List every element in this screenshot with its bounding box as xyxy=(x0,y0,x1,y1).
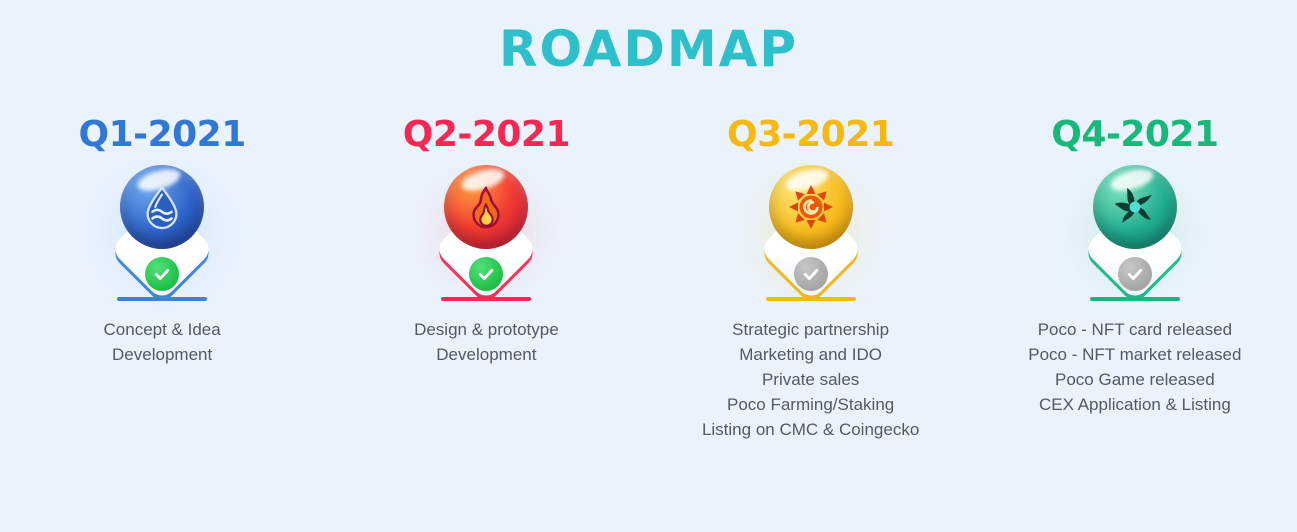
phase-label-q4: Q4-2021 xyxy=(1051,117,1218,153)
phase-label-q3: Q3-2021 xyxy=(727,117,894,153)
phase-emblem-q3 xyxy=(721,165,901,285)
list-item: Private sales xyxy=(702,367,919,392)
roadmap-phase-q3: Q3-2021 xyxy=(649,117,973,442)
list-item: Poco - NFT market released xyxy=(1028,342,1241,367)
list-item: Poco Game released xyxy=(1028,367,1241,392)
roadmap-phase-q2: Q2-2021 Design & prototype De xyxy=(324,117,648,367)
phase-divider xyxy=(1090,297,1180,301)
list-item: Marketing and IDO xyxy=(702,342,919,367)
roadmap-phase-q4: Q4-2021 xyxy=(973,117,1297,417)
orb-rim xyxy=(120,165,204,249)
orb-rim xyxy=(1093,165,1177,249)
phase-emblem-q4 xyxy=(1045,165,1225,285)
phase-items-q1: Concept & Idea Development xyxy=(104,317,221,367)
phase-divider xyxy=(117,297,207,301)
phase-label-q2: Q2-2021 xyxy=(403,117,570,153)
list-item: Poco - NFT card released xyxy=(1028,317,1241,342)
roadmap-phase-q1: Q1-2021 Conce xyxy=(0,117,324,367)
phase-divider xyxy=(441,297,531,301)
phase-label-q1: Q1-2021 xyxy=(78,117,245,153)
list-item: CEX Application & Listing xyxy=(1028,392,1241,417)
list-item: Development xyxy=(414,342,559,367)
status-badge-check-icon xyxy=(1118,257,1152,291)
sun-orb-icon xyxy=(769,165,853,249)
flame-orb-icon xyxy=(444,165,528,249)
phase-items-q2: Design & prototype Development xyxy=(414,317,559,367)
status-badge-check-icon xyxy=(794,257,828,291)
roadmap-phase-list: Q1-2021 Conce xyxy=(0,117,1297,442)
phase-items-q3: Strategic partnership Marketing and IDO … xyxy=(702,317,919,442)
wind-swirl-orb-icon xyxy=(1093,165,1177,249)
phase-emblem-q1 xyxy=(72,165,252,285)
list-item: Development xyxy=(104,342,221,367)
check-icon xyxy=(476,264,496,284)
water-drop-orb-icon xyxy=(120,165,204,249)
phase-emblem-q2 xyxy=(396,165,576,285)
status-badge-check-icon xyxy=(145,257,179,291)
check-icon xyxy=(1125,264,1145,284)
page-title: ROADMAP xyxy=(0,22,1297,77)
phase-items-q4: Poco - NFT card released Poco - NFT mark… xyxy=(1028,317,1241,417)
orb-rim xyxy=(769,165,853,249)
list-item: Concept & Idea xyxy=(104,317,221,342)
list-item: Listing on CMC & Coingecko xyxy=(702,417,919,442)
check-icon xyxy=(801,264,821,284)
list-item: Design & prototype xyxy=(414,317,559,342)
list-item: Poco Farming/Staking xyxy=(702,392,919,417)
check-icon xyxy=(152,264,172,284)
phase-divider xyxy=(766,297,856,301)
orb-rim xyxy=(444,165,528,249)
list-item: Strategic partnership xyxy=(702,317,919,342)
